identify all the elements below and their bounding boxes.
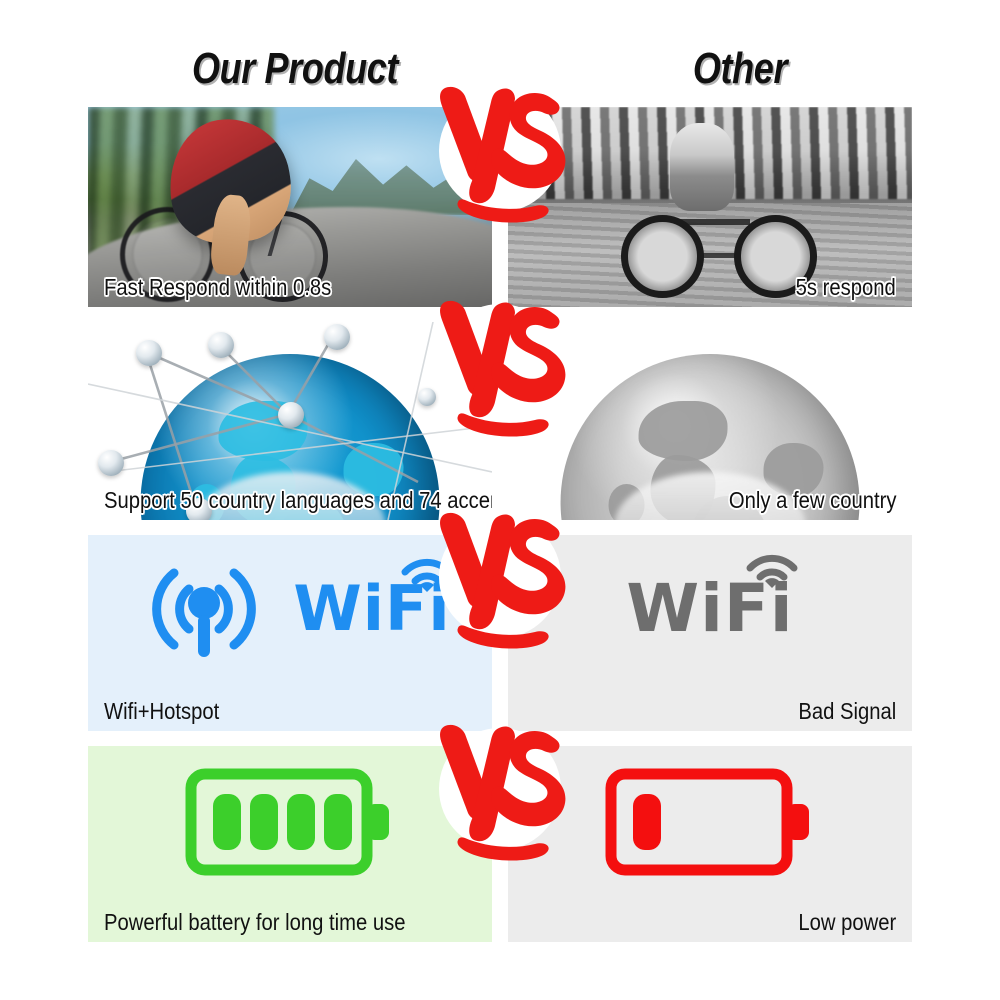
battery-full-icon: [185, 766, 395, 878]
panel-our-product-languages: Support 50 country languages and 74 acce…: [88, 322, 492, 520]
network-node: [98, 450, 124, 476]
comparison-infographic: Our Product Other Fast Respond within 0.…: [0, 0, 1000, 1000]
network-node: [136, 340, 162, 366]
caption-powerful-battery: Powerful battery for long time use: [104, 909, 405, 936]
caption-wifi-hotspot: Wifi+Hotspot: [104, 698, 219, 725]
caption-only-a-few-country: Only a few country: [728, 487, 896, 514]
panel-other-languages: Only a few country: [508, 322, 912, 520]
column-headers: Our Product Other: [0, 44, 1000, 100]
child-rider: [670, 123, 735, 211]
landmass: [638, 401, 728, 460]
wifi-wordmark-blue: WiFi: [293, 578, 450, 640]
row-language-support: Support 50 country languages and 74 acce…: [88, 322, 912, 520]
caption-language-support: Support 50 country languages and 74 acce…: [104, 487, 492, 514]
wifi-signal-arc-icon: [399, 548, 455, 592]
caption-5s-respond: 5s respond: [796, 274, 896, 301]
wifi-signal-arc-icon: [744, 544, 800, 588]
network-node: [278, 402, 304, 428]
caption-low-power: Low power: [798, 909, 896, 936]
child-bike-rear-wheel: [621, 215, 704, 298]
panel-other-wifi: WiFi Bad Signal: [508, 535, 912, 731]
panel-other-response: 5s respond: [508, 107, 912, 307]
row-connectivity: WiFi Wifi+Hotspot WiFi: [88, 535, 912, 731]
row-response-speed: Fast Respond within 0.8s 5s respond: [88, 107, 912, 307]
wifi-wordmark-grey: WiFi: [626, 576, 793, 642]
caption-fast-respond: Fast Respond within 0.8s: [104, 274, 331, 301]
network-node: [208, 332, 234, 358]
network-node: [418, 388, 436, 406]
header-other: Other: [592, 44, 887, 94]
caption-bad-signal: Bad Signal: [798, 698, 896, 725]
row-battery: Powerful battery for long time use Low p…: [88, 746, 912, 942]
panel-our-product-response: Fast Respond within 0.8s: [88, 107, 492, 307]
panel-other-battery: Low power: [508, 746, 912, 942]
battery-low-icon: [605, 766, 815, 878]
panel-our-product-battery: Powerful battery for long time use: [88, 746, 492, 942]
mountain-backdrop: [290, 135, 484, 215]
panel-our-product-wifi: WiFi Wifi+Hotspot: [88, 535, 492, 731]
header-our-product: Our Product: [143, 44, 446, 94]
network-node: [324, 324, 350, 350]
wifi-hotspot-icon: [129, 553, 279, 665]
